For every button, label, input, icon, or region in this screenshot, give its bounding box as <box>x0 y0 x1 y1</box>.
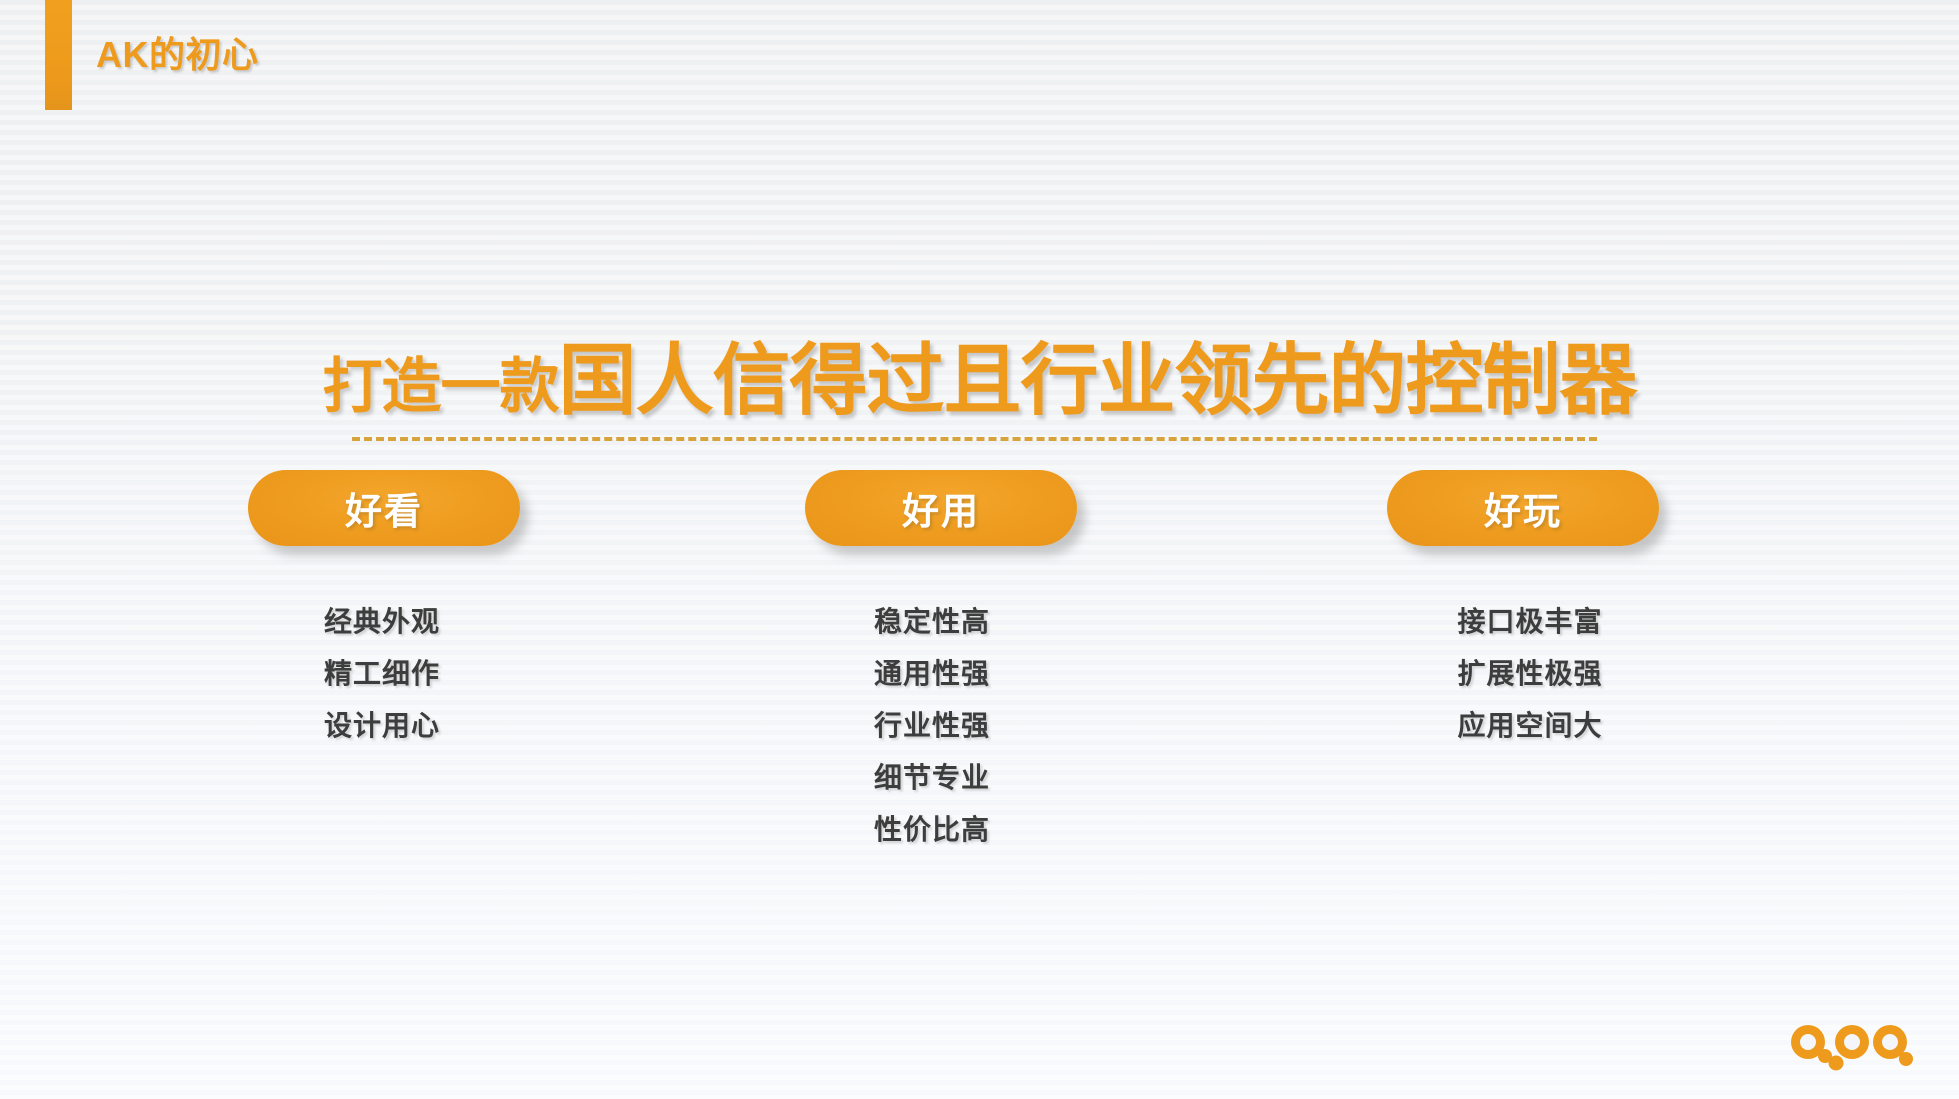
category-pill-label: 好玩 <box>1484 481 1562 535</box>
category-pill-label: 好看 <box>345 481 423 535</box>
category-pill-haowan[interactable]: 好玩 <box>1387 470 1659 546</box>
list-item: 接口极丰富 <box>1370 596 1690 648</box>
page-title: AK的初心 <box>96 26 259 78</box>
list-item: 扩展性极强 <box>1370 648 1690 700</box>
category-pill-label: 好用 <box>902 481 980 535</box>
feature-column-haoyong: 稳定性高 通用性强 行业性强 细节专业 性价比高 <box>772 596 1092 856</box>
slide-canvas: AK的初心 打造一款国人信得过且行业领先的控制器 好看 好用 好玩 经典外观 精… <box>0 0 1959 1099</box>
feature-column-haowan: 接口极丰富 扩展性极强 应用空间大 <box>1370 596 1690 752</box>
headline-prefix: 打造一款 <box>322 353 558 420</box>
title-divider <box>352 437 1597 441</box>
list-item: 应用空间大 <box>1370 700 1690 752</box>
list-item: 行业性强 <box>772 700 1092 752</box>
list-item: 经典外观 <box>222 596 542 648</box>
category-pill-haokan[interactable]: 好看 <box>248 470 520 546</box>
brand-logo <box>1785 1016 1915 1078</box>
list-item: 设计用心 <box>222 700 542 752</box>
category-pill-row: 好看 好用 好玩 <box>0 470 1959 550</box>
headline-emphasis: 国人信得过且行业领先的控制器 <box>558 336 1636 424</box>
apa-wordmark-icon <box>1785 1016 1915 1078</box>
category-pill-haoyong[interactable]: 好用 <box>805 470 1077 546</box>
list-item: 性价比高 <box>772 804 1092 856</box>
list-item: 精工细作 <box>222 648 542 700</box>
list-item: 细节专业 <box>772 752 1092 804</box>
feature-column-haokan: 经典外观 精工细作 设计用心 <box>222 596 542 752</box>
header-accent-bar <box>45 0 72 110</box>
main-headline: 打造一款国人信得过且行业领先的控制器 <box>0 318 1959 430</box>
list-item: 稳定性高 <box>772 596 1092 648</box>
list-item: 通用性强 <box>772 648 1092 700</box>
